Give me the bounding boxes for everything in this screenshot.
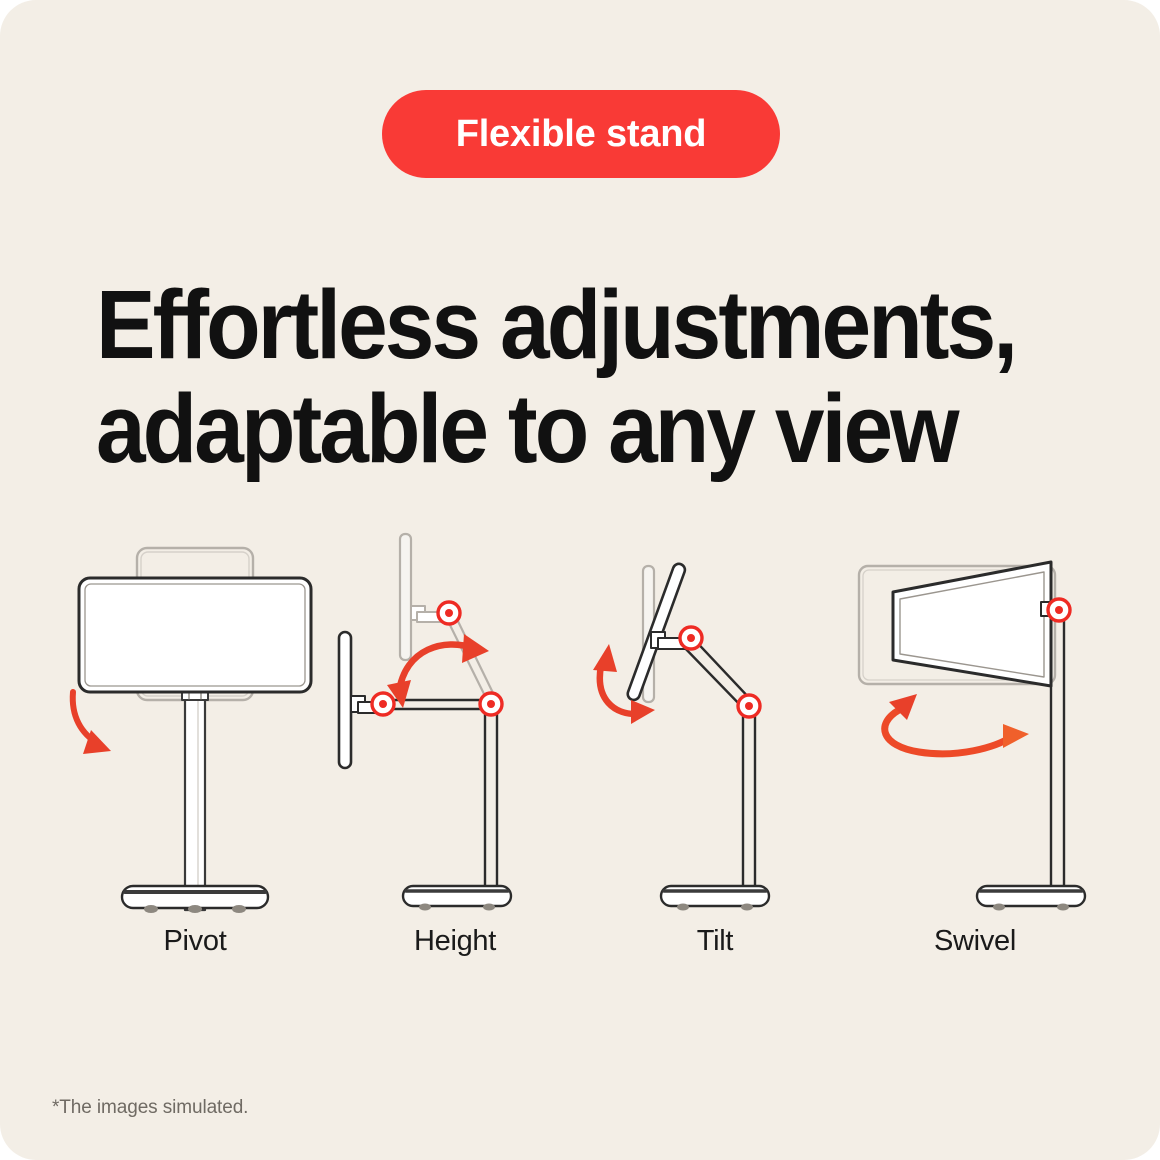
stand-height-icon (325, 520, 585, 920)
stand-swivel-icon (845, 520, 1105, 920)
stand-tilt-icon (585, 520, 845, 920)
illustration-label-tilt: Tilt (585, 925, 845, 958)
footnote: *The images simulated. (52, 1097, 248, 1119)
pivot-joint-marker (438, 602, 460, 624)
pivot-rotation-arrow (73, 692, 111, 754)
headline-line-2: adaptable to any view (96, 377, 1007, 481)
pivot-joint-marker (1048, 599, 1070, 621)
adjustment-illustrations: Pivot (60, 520, 1100, 990)
badge-label: Flexible stand (456, 115, 707, 153)
pivot-joint-marker (738, 695, 760, 717)
pivot-joint-marker (480, 693, 502, 715)
flexible-stand-card: Flexible stand Effortless adjustments, a… (0, 0, 1160, 1160)
illustration-label-height: Height (325, 925, 585, 958)
pivot-joint-marker (372, 693, 394, 715)
illustration-label-pivot: Pivot (65, 925, 325, 958)
stand-pivot-icon (65, 520, 325, 920)
swivel-rotation-arrow (885, 694, 1029, 754)
illustration-height: Height (325, 520, 585, 990)
illustration-label-swivel: Swivel (845, 925, 1105, 958)
headline-line-1: Effortless adjustments, (96, 273, 1007, 377)
pivot-joint-marker (680, 627, 702, 649)
illustration-pivot: Pivot (65, 520, 325, 990)
page-title: Effortless adjustments, adaptable to any… (96, 273, 1007, 481)
flexible-stand-badge: Flexible stand (382, 90, 780, 178)
illustration-swivel: Swivel (845, 520, 1105, 990)
illustration-tilt: Tilt (585, 520, 845, 990)
